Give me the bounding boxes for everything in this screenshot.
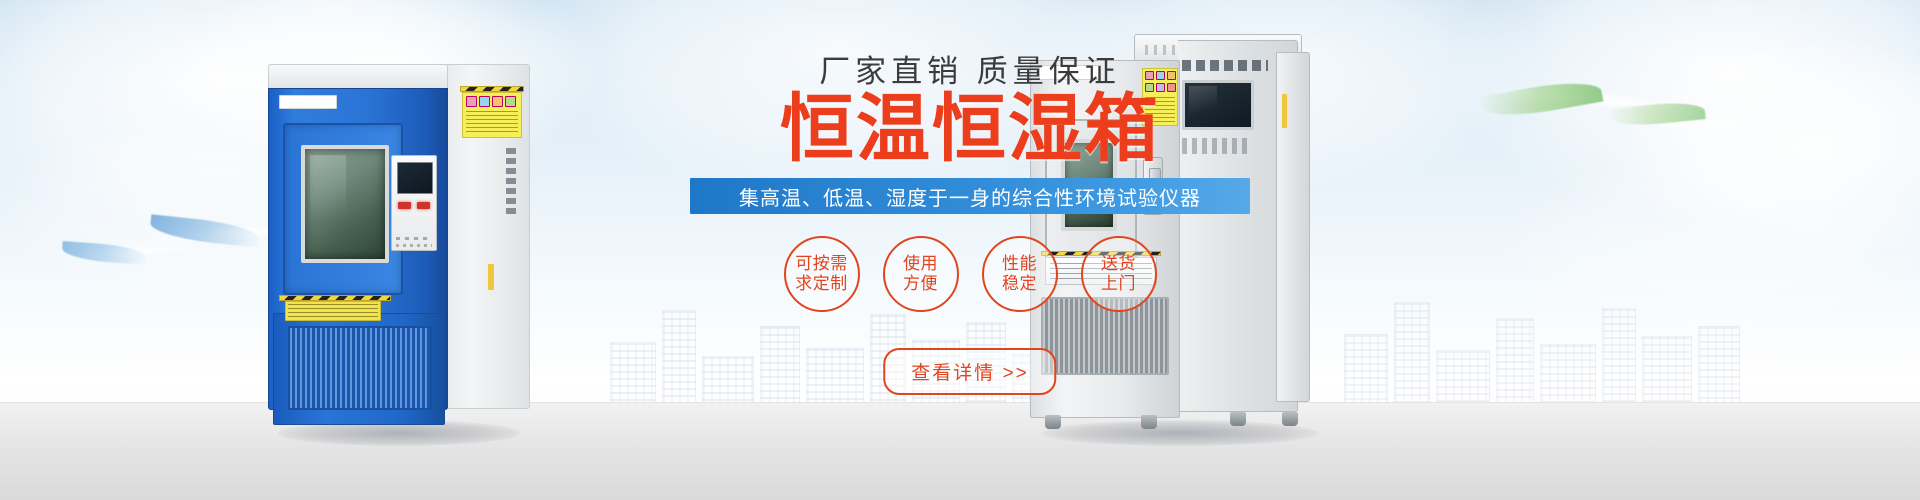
feature-line-1: 性能 — [1002, 254, 1037, 274]
warning-label — [285, 301, 381, 321]
feature-badge-delivery[interactable]: 送货 上门 — [1081, 236, 1157, 312]
feature-badge-list: 可按需 求定制 使用 方便 性能 稳定 送货 上门 — [690, 236, 1250, 312]
swoosh-decoration — [1600, 114, 1780, 134]
blue-leaf-decoration — [149, 214, 261, 247]
chamber-viewing-window — [301, 145, 389, 263]
banner-headline: 恒温恒湿箱 — [690, 92, 1250, 166]
feature-line-1: 可按需 — [795, 254, 848, 274]
product-nameplate-left — [506, 148, 516, 218]
hazard-stripe — [460, 86, 524, 92]
feature-badge-custom[interactable]: 可按需 求定制 — [784, 236, 860, 312]
panel-maker-text — [396, 244, 432, 247]
yellow-marker — [1282, 94, 1287, 128]
panel-label-text — [396, 237, 432, 240]
feature-line-1: 送货 — [1101, 254, 1136, 274]
feature-line-2: 方便 — [903, 274, 938, 294]
cloud-decoration — [1620, 40, 1920, 260]
cloud-decoration — [1450, 0, 1920, 220]
city-skyline-decoration — [1340, 284, 1760, 414]
feature-badge-easy-use[interactable]: 使用 方便 — [883, 236, 959, 312]
promo-banner: 厂家直销 质量保证 恒温恒湿箱 集高温、低温、湿度于一身的综合性环境试验仪器 可… — [0, 0, 1920, 500]
green-leaf-decoration — [1481, 76, 1604, 122]
banner-subtitle-text: 集高温、低温、湿度于一身的综合性环境试验仪器 — [739, 182, 1201, 211]
swoosh-decoration — [1480, 85, 1720, 116]
chamber-vent-grille — [288, 326, 432, 410]
view-details-button[interactable]: 查看详情 >> — [883, 348, 1056, 395]
banner-subtitle-bar: 集高温、低温、湿度于一身的综合性环境试验仪器 — [690, 178, 1250, 214]
yellow-marker — [488, 264, 494, 290]
led-indicator — [417, 202, 430, 209]
feature-badge-stable[interactable]: 性能 稳定 — [982, 236, 1058, 312]
blue-leaf-decoration — [61, 241, 147, 265]
hazard-stripe — [279, 295, 391, 301]
swoosh-decoration — [60, 244, 210, 259]
banner-copy-block: 厂家直销 质量保证 恒温恒湿箱 集高温、低温、湿度于一身的综合性环境试验仪器 可… — [690, 0, 1250, 500]
chamber-control-panel — [391, 155, 437, 251]
cloud-decoration — [1500, 150, 1920, 340]
chamber-blue-body — [268, 88, 448, 410]
brand-badge — [279, 95, 337, 109]
chamber-foot — [1282, 412, 1298, 426]
feature-line-1: 使用 — [903, 254, 938, 274]
chamber-lower-unit — [273, 313, 445, 425]
banner-tagline: 厂家直销 质量保证 — [690, 56, 1250, 87]
green-leaf-decoration — [1609, 99, 1706, 129]
feature-line-2: 上门 — [1101, 274, 1136, 294]
chamber-door — [283, 123, 403, 295]
led-indicator — [398, 202, 411, 209]
control-display-screen — [397, 162, 433, 194]
feature-line-2: 求定制 — [795, 274, 848, 294]
chamber-top-cap — [268, 64, 448, 90]
product-photo-left — [268, 64, 530, 432]
safety-sticker-panel — [462, 92, 522, 138]
feature-line-2: 稳定 — [1002, 274, 1037, 294]
